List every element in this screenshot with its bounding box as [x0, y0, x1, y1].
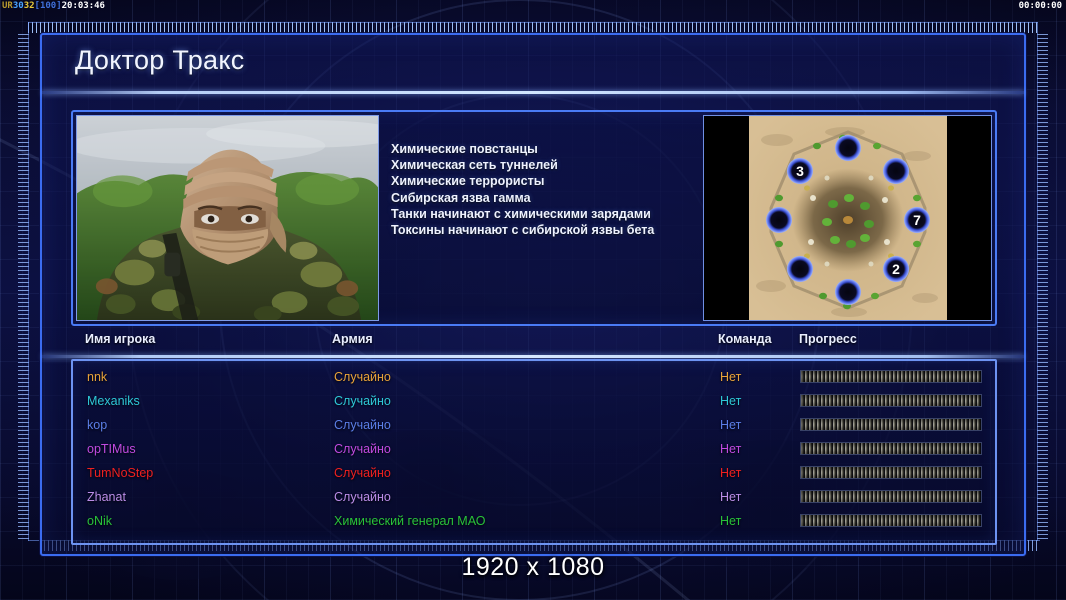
- table-row[interactable]: Mexaniks Случайно Нет: [73, 389, 995, 413]
- status-bracket: [100]: [35, 1, 62, 11]
- player-team[interactable]: Нет: [720, 509, 741, 533]
- progress-fill: [801, 395, 981, 406]
- player-team[interactable]: Нет: [720, 437, 741, 461]
- title-zone: Доктор Тракс: [42, 35, 1024, 92]
- player-army[interactable]: Случайно: [334, 365, 391, 389]
- player-team[interactable]: Нет: [720, 461, 741, 485]
- player-name[interactable]: kop: [87, 413, 107, 437]
- frame-line-left: [28, 22, 29, 541]
- status-clock: 20:03:46: [62, 1, 105, 11]
- progress-fill: [801, 371, 981, 382]
- column-header-team: Команда: [718, 332, 772, 346]
- svg-text:7: 7: [913, 212, 921, 228]
- description-line: Химические террористы: [391, 173, 721, 189]
- player-name[interactable]: opTIMus: [87, 437, 136, 461]
- status-bar-left: UR3032[100]20:03:46: [2, 0, 105, 12]
- player-army[interactable]: Случайно: [334, 485, 391, 509]
- lobby-panel: Доктор Тракс: [40, 33, 1026, 556]
- table-row[interactable]: kop Случайно Нет: [73, 413, 995, 437]
- minimap[interactable]: 3 7 2: [703, 115, 992, 321]
- player-team[interactable]: Нет: [720, 389, 741, 413]
- progress-fill: [801, 515, 981, 526]
- player-name[interactable]: oNik: [87, 509, 112, 533]
- title-divider: [42, 91, 1024, 94]
- faction-info-box: Химические повстанцы Химическая сеть тун…: [71, 110, 997, 326]
- minimap-image: 3 7 2: [749, 116, 947, 321]
- table-row[interactable]: opTIMus Случайно Нет: [73, 437, 995, 461]
- table-row[interactable]: Zhanat Случайно Нет: [73, 485, 995, 509]
- player-progress-bar: [800, 418, 982, 431]
- table-row[interactable]: oNik Химический генерал МАО Нет: [73, 509, 995, 533]
- status-value1: 30: [13, 1, 24, 11]
- player-army[interactable]: Случайно: [334, 413, 391, 437]
- description-line: Токсины начинают с сибирской язвы бета: [391, 222, 721, 238]
- svg-text:3: 3: [796, 163, 804, 179]
- description-line: Химическая сеть туннелей: [391, 157, 721, 173]
- description-line: Химические повстанцы: [391, 141, 721, 157]
- table-header-divider: [42, 355, 1024, 358]
- frame-line-right: [1037, 22, 1038, 541]
- progress-fill: [801, 491, 981, 502]
- player-name[interactable]: nnk: [87, 365, 107, 389]
- description-line: Танки начинают с химическими зарядами: [391, 206, 721, 222]
- page-title: Доктор Тракс: [75, 45, 245, 76]
- player-army[interactable]: Случайно: [334, 389, 391, 413]
- progress-fill: [801, 467, 981, 478]
- player-list: nnk Случайно Нет Mexaniks Случайно Нет k…: [71, 359, 997, 545]
- column-header-progress: Прогресс: [799, 332, 857, 346]
- table-header-row: Имя игрока Армия Команда Прогресс: [42, 332, 1024, 355]
- player-progress-bar: [800, 514, 982, 527]
- svg-text:2: 2: [892, 261, 900, 277]
- player-progress-bar: [800, 442, 982, 455]
- frame-ticks-right: [1037, 34, 1048, 539]
- player-name[interactable]: TumNoStep: [87, 461, 153, 485]
- description-line: Сибирская язва гамма: [391, 190, 721, 206]
- status-bar: UR3032[100]20:03:46 00:00:00: [0, 0, 1066, 12]
- game-lobby-screen: UR3032[100]20:03:46 00:00:00 Доктор Трак…: [0, 0, 1066, 600]
- player-army[interactable]: Случайно: [334, 437, 391, 461]
- status-right-clock: 00:00:00: [1019, 0, 1062, 12]
- progress-fill: [801, 443, 981, 454]
- commander-portrait: [76, 115, 379, 321]
- player-team[interactable]: Нет: [720, 413, 741, 437]
- resolution-overlay: 1920 x 1080: [0, 553, 1066, 582]
- player-progress-bar: [800, 394, 982, 407]
- table-row[interactable]: TumNoStep Случайно Нет: [73, 461, 995, 485]
- column-header-player: Имя игрока: [85, 332, 155, 346]
- player-army[interactable]: Химический генерал МАО: [334, 509, 485, 533]
- status-tag: UR: [2, 1, 13, 11]
- player-progress-bar: [800, 370, 982, 383]
- faction-description: Химические повстанцы Химическая сеть тун…: [391, 141, 721, 238]
- player-name[interactable]: Mexaniks: [87, 389, 140, 413]
- frame-ticks-top: [28, 22, 1038, 33]
- progress-fill: [801, 419, 981, 430]
- player-team[interactable]: Нет: [720, 485, 741, 509]
- column-header-army: Армия: [332, 332, 373, 346]
- player-name[interactable]: Zhanat: [87, 485, 126, 509]
- frame-line-top: [28, 22, 1038, 23]
- player-progress-bar: [800, 466, 982, 479]
- player-team[interactable]: Нет: [720, 365, 741, 389]
- status-value2: 32: [24, 1, 35, 11]
- player-progress-bar: [800, 490, 982, 503]
- table-row[interactable]: nnk Случайно Нет: [73, 365, 995, 389]
- player-army[interactable]: Случайно: [334, 461, 391, 485]
